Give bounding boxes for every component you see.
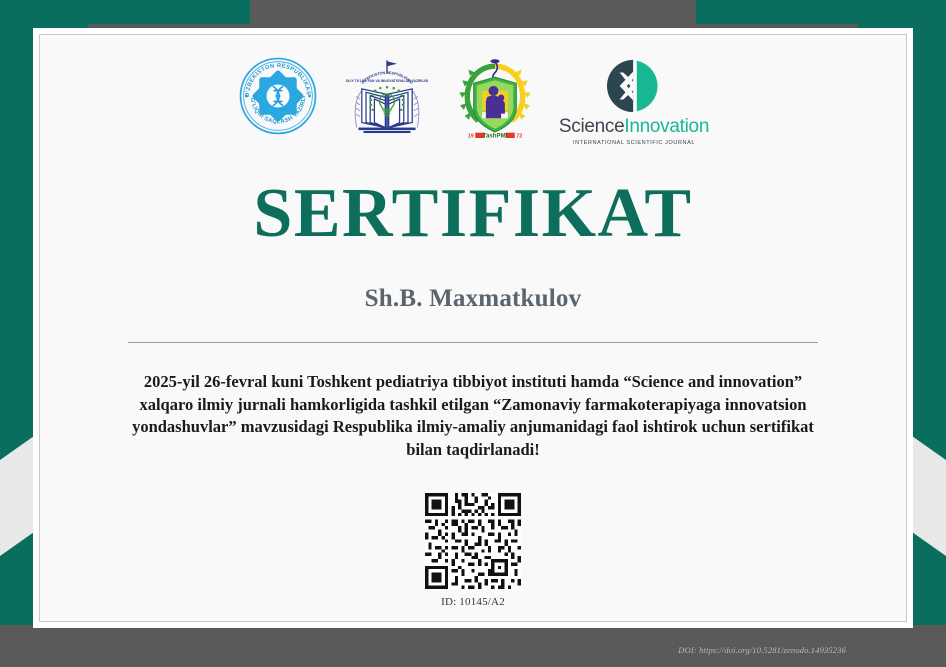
- svg-text:72: 72: [516, 134, 522, 140]
- moh-circular-seal-dna-icon: O'ZBEKISTON RESPUBLIKASI SOG'LIQNI SAQLA…: [239, 57, 317, 135]
- certificate-verification-qr-code[interactable]: [425, 493, 521, 589]
- doi-reference: DOI: https://doi.org/10.5281/zenodo.1493…: [678, 645, 846, 655]
- svg-text:OLIY TA'LIM, FAN VA INNOVATSIY: OLIY TA'LIM, FAN VA INNOVATSIYALAR VAZIR…: [346, 79, 429, 83]
- decorative-corner-top-right-arm: [696, 0, 946, 24]
- certificate-id-label: ID: 10145/A2: [441, 596, 505, 608]
- decorative-corner-top-left-arm: [0, 0, 250, 24]
- laurel-wreath-shield-icon: 19 72 TashPMI: [457, 57, 533, 143]
- certificate-page: DOI: https://doi.org/10.5281/zenodo.1493…: [0, 0, 946, 667]
- science-innovation-s-arrow-icon: [607, 59, 661, 113]
- open-books-lightbulb-atom-icon: O'ZBEKISTON RESPUBLIKASI OLIY TA'LIM, FA…: [345, 57, 429, 141]
- science-innovation-wordmark: ScienceInnovation: [559, 116, 709, 138]
- logo-science-innovation: ScienceInnovation INTERNATIONAL SCIENTIF…: [561, 57, 707, 146]
- svg-text:19: 19: [468, 134, 474, 140]
- logo-tashkent-pediatric-medical-institute: 19 72 TashPMI: [457, 57, 533, 148]
- certificate-body-text: 2025-yil 26-fevral kuni Toshkent pediatr…: [128, 371, 818, 461]
- horizontal-divider: [128, 342, 818, 343]
- si-word-science: Science: [559, 116, 625, 137]
- science-innovation-subtitle: INTERNATIONAL SCIENTIFIC JOURNAL: [573, 140, 695, 146]
- svg-text:TashPMI: TashPMI: [483, 133, 508, 140]
- certificate-card-inner: O'ZBEKISTON RESPUBLIKASI SOG'LIQNI SAQLA…: [39, 34, 907, 622]
- logo-ministry-of-health: O'ZBEKISTON RESPUBLIKASI SOG'LIQNI SAQLA…: [239, 57, 317, 140]
- logo-ministry-of-higher-education: O'ZBEKISTON RESPUBLIKASI OLIY TA'LIM, FA…: [345, 57, 429, 146]
- si-word-innovation: Innovation: [624, 116, 709, 137]
- certificate-title: SERTIFIKAT: [253, 179, 692, 249]
- logo-row: O'ZBEKISTON RESPUBLIKASI SOG'LIQNI SAQLA…: [239, 57, 707, 153]
- certificate-card: O'ZBEKISTON RESPUBLIKASI SOG'LIQNI SAQLA…: [33, 28, 913, 628]
- recipient-name: Sh.B. Maxmatkulov: [365, 285, 582, 313]
- qr-block: ID: 10145/A2: [425, 493, 521, 608]
